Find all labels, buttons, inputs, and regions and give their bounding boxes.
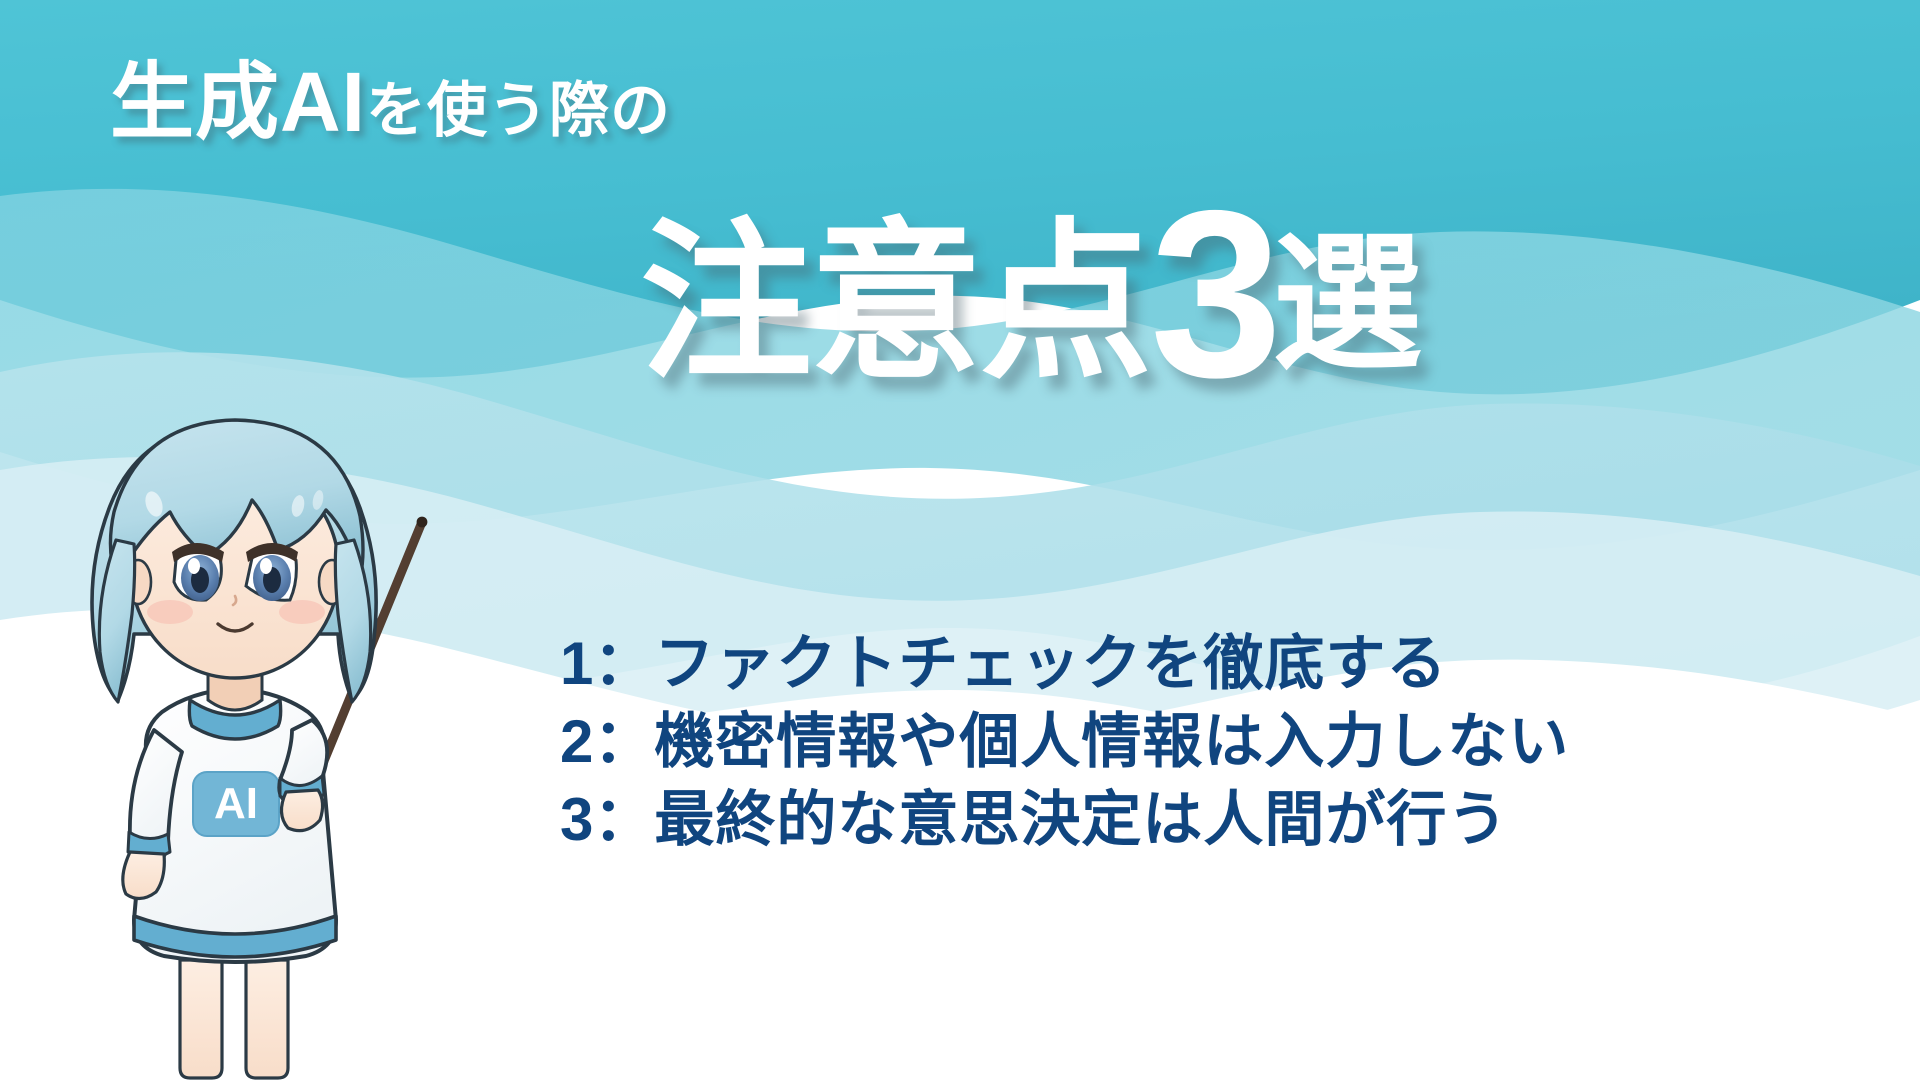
point-3-number: 3: [560, 786, 593, 853]
eyebrow-part2: を使う際の: [366, 77, 671, 144]
list-item: 1：ファクトチェックを徹底する: [560, 625, 1569, 703]
point-1-separator: ：: [593, 630, 654, 697]
eyebrow-heading: 生成AIを使う際の: [110, 60, 671, 144]
character-head: [92, 420, 376, 702]
list-item: 2：機密情報や個人情報は入力しない: [560, 703, 1569, 781]
character-legs: [180, 960, 288, 1078]
point-3-label: 最終的な意思決定は人間が行う: [654, 786, 1508, 853]
title-text-before: 注意点: [640, 207, 1150, 399]
point-2-label: 機密情報や個人情報は入力しない: [654, 708, 1569, 775]
point-1-label: ファクトチェックを徹底する: [654, 630, 1447, 697]
point-2-separator: ：: [593, 708, 654, 775]
page-title: 注意点3選: [640, 188, 1420, 402]
points-list: 1：ファクトチェックを徹底する 2：機密情報や個人情報は入力しない 3：最終的な…: [560, 625, 1569, 859]
title-number: 3: [1150, 162, 1272, 427]
mascot-character-icon: AI: [30, 400, 480, 1080]
list-item: 3：最終的な意思決定は人間が行う: [560, 781, 1569, 859]
point-1-number: 1: [560, 630, 593, 697]
title-text-after: 選: [1272, 220, 1420, 388]
shirt-logo-text: AI: [214, 779, 258, 828]
point-2-number: 2: [560, 708, 593, 775]
point-3-separator: ：: [593, 786, 654, 853]
slide-canvas: 生成AIを使う際の 注意点3選 1：ファクトチェックを徹底する 2：機密情報や個…: [0, 0, 1920, 1080]
eyebrow-part1: 生成AI: [110, 55, 366, 149]
